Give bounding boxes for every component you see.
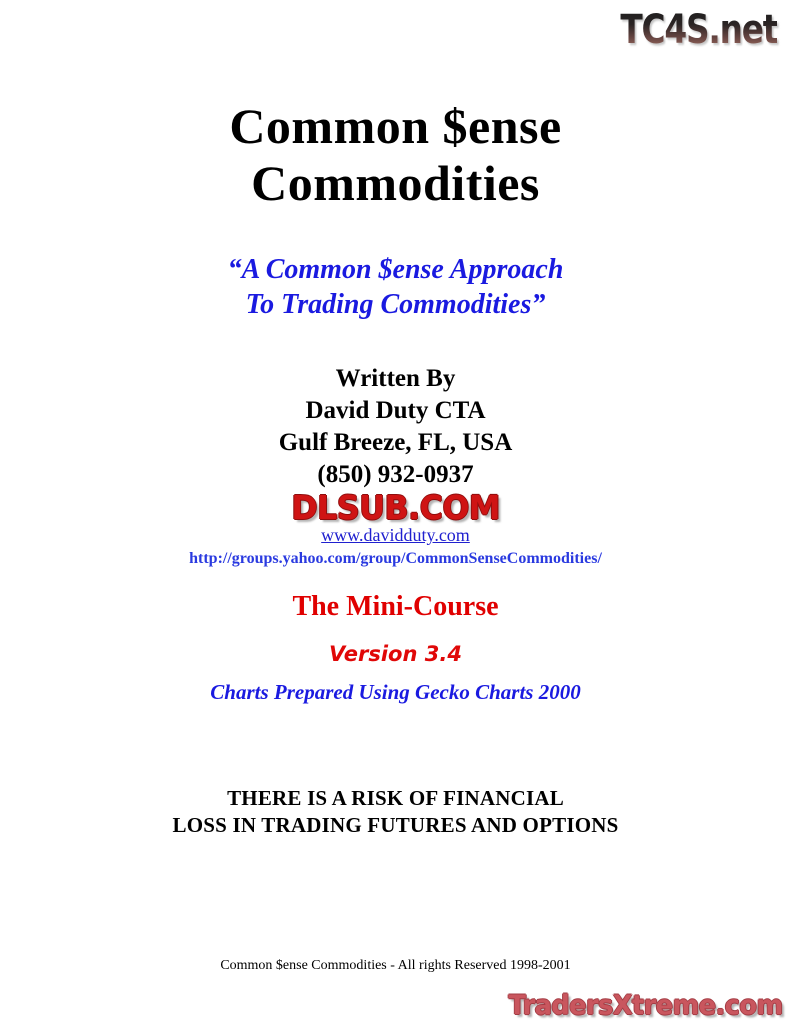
title-line-2: Commodities [0,155,791,212]
footer-copyright: Common $ense Commodities - All rights Re… [0,957,791,975]
document-title: Common $ense Commodities [0,98,791,212]
watermark-dlsub: DLSUB.COM [0,490,791,526]
watermark-tradersxtreme: TradersXtreme.com [509,990,783,1022]
author-phone: (850) 932-0937 [0,459,791,491]
disclaimer-line-1: THERE IS A RISK OF FINANCIAL [0,785,791,812]
title-line-1: Common $ense [0,98,791,155]
watermark-dlsub-text: DLSUB.COM [291,490,500,526]
watermark-tc4s: TC4S.net [620,6,777,54]
subtitle-line-2: To Trading Commodities” [0,287,791,322]
author-name: David Duty CTA [0,395,791,427]
subtitle-line-1: “A Common $ense Approach [0,252,791,287]
author-location: Gulf Breeze, FL, USA [0,427,791,459]
document-subtitle: “A Common $ense Approach To Trading Comm… [0,252,791,322]
author-block: Written By David Duty CTA Gulf Breeze, F… [0,363,791,491]
risk-disclaimer: THERE IS A RISK OF FINANCIAL LOSS IN TRA… [0,785,791,839]
disclaimer-line-2: LOSS IN TRADING FUTURES AND OPTIONS [0,812,791,839]
yahoo-group-link[interactable]: http://groups.yahoo.com/group/CommonSens… [0,549,791,569]
website-link[interactable]: www.davidduty.com [0,524,791,546]
course-version: Version 3.4 [0,641,791,667]
charts-credit-note: Charts Prepared Using Gecko Charts 2000 [0,679,791,706]
document-page: TC4S.net Common $ense Commodities “A Com… [0,0,791,1024]
written-by-label: Written By [0,363,791,395]
course-name: The Mini-Course [0,589,791,624]
